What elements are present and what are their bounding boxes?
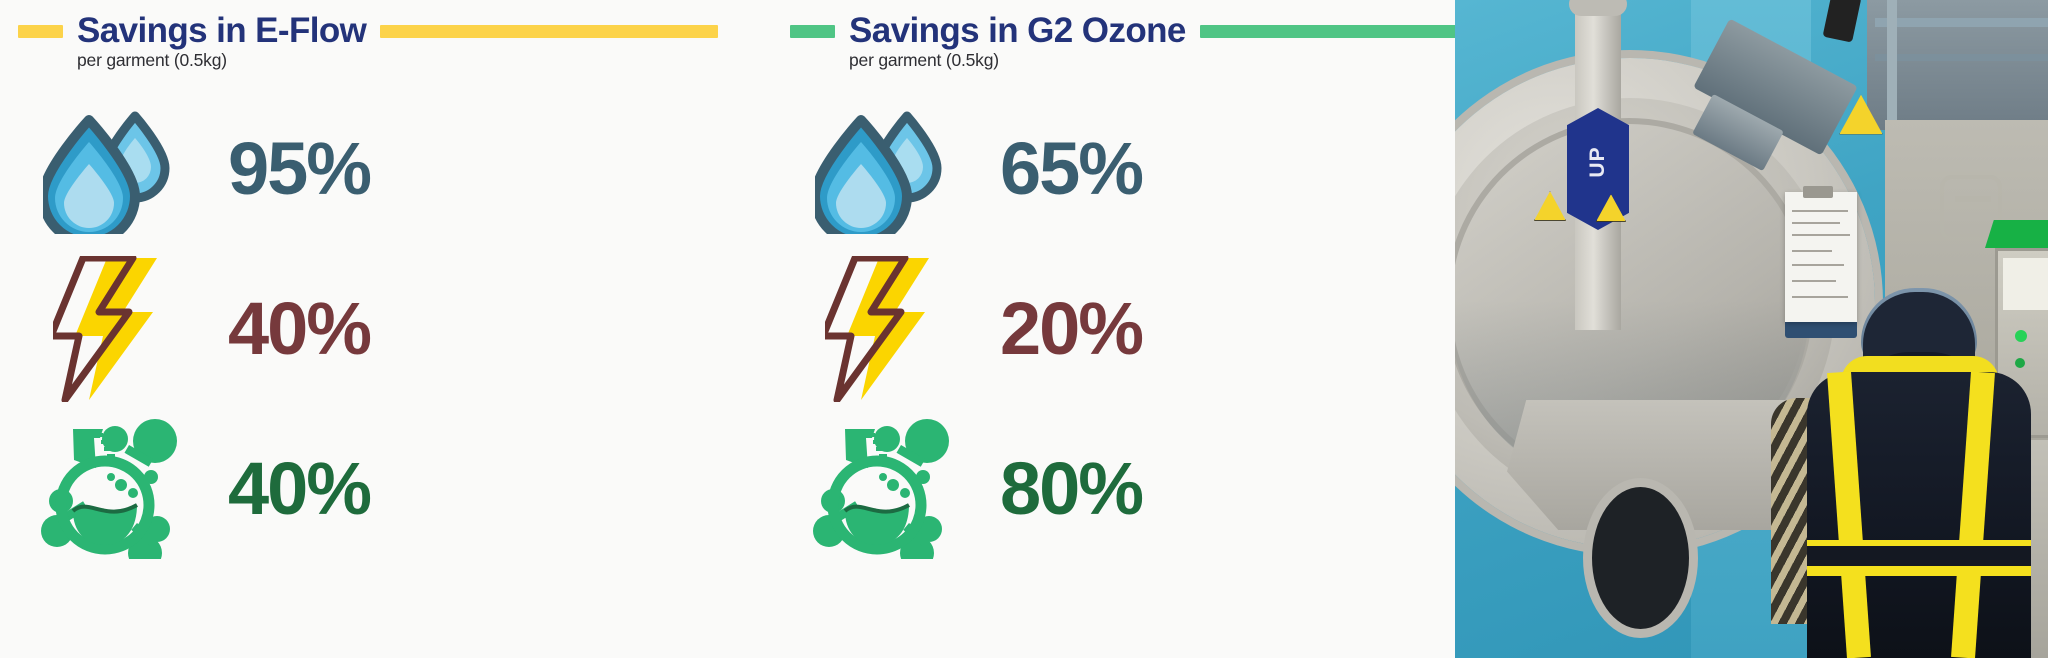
status-led-green <box>2015 358 2025 368</box>
lightning-bolt-icon <box>18 256 208 402</box>
apron-waist-band <box>1807 566 2031 576</box>
column-title-e-flow: Savings in E-Flow <box>77 11 366 51</box>
overhead-post <box>1887 0 1897 120</box>
column-title-g2-ozone: Savings in G2 Ozone <box>849 11 1186 51</box>
stat-value-water: 65% <box>1000 132 1142 206</box>
stat-value-chemicals: 40% <box>228 452 370 526</box>
paper-line <box>1792 264 1844 266</box>
stat-row-water: 95% <box>18 89 718 249</box>
stat-row-water: 65% <box>790 89 1490 249</box>
water-drops-icon <box>18 104 208 234</box>
lightning-bolt-icon <box>790 256 980 402</box>
stat-value-chemicals: 80% <box>1000 452 1142 526</box>
stat-row-chemicals: 80% <box>790 409 1490 569</box>
column-header-g2-ozone: Savings in G2 Ozone <box>790 0 1490 46</box>
drain-port <box>1583 478 1698 638</box>
water-drops-icon <box>790 104 980 234</box>
stat-value-energy: 40% <box>228 292 370 366</box>
paper-line <box>1792 280 1836 282</box>
up-sign-label: UP <box>1586 131 1610 193</box>
stat-rows-g2-ozone: 65% 20% <box>790 89 1490 569</box>
green-awning <box>1985 220 2048 248</box>
paper-line <box>1792 250 1832 252</box>
clipboard-clamp <box>1803 186 1833 198</box>
worker-belt <box>1807 546 2031 568</box>
paper-line <box>1792 234 1850 236</box>
control-label-plate <box>2003 258 2048 310</box>
factory-photo: UP <box>1455 0 2048 658</box>
rule-short-green <box>790 25 835 38</box>
stat-row-chemicals: 40% <box>18 409 718 569</box>
manufacturer-logo-bar <box>1955 196 1991 202</box>
infographic-slide: Savings in E-Flow per garment (0.5kg) <box>0 0 2048 658</box>
lift-arm-cap <box>1569 0 1627 16</box>
rule-long-green <box>1200 25 1490 38</box>
rule-long-yellow <box>380 25 718 38</box>
overhead-rail <box>1875 18 2048 27</box>
stat-row-energy: 40% <box>18 249 718 409</box>
chemistry-flask-icon <box>18 419 208 559</box>
stat-value-energy: 20% <box>1000 292 1142 366</box>
column-subtitle-e-flow: per garment (0.5kg) <box>77 50 718 71</box>
stat-value-water: 95% <box>228 132 370 206</box>
overhead-rail <box>1875 54 2048 61</box>
paper-line <box>1792 296 1848 298</box>
stats-panel: Savings in E-Flow per garment (0.5kg) <box>0 0 1455 658</box>
stat-rows-e-flow: 95% 40% <box>18 89 718 569</box>
stat-row-energy: 20% <box>790 249 1490 409</box>
column-header-e-flow: Savings in E-Flow <box>18 0 718 46</box>
paper-line <box>1792 210 1848 212</box>
chemistry-flask-icon <box>790 419 980 559</box>
paper-line <box>1792 222 1840 224</box>
rule-short-yellow <box>18 25 63 38</box>
column-subtitle-g2-ozone: per garment (0.5kg) <box>849 50 1490 71</box>
status-led-green <box>2015 330 2027 342</box>
stats-column-e-flow: Savings in E-Flow per garment (0.5kg) <box>18 0 718 658</box>
stats-column-g2-ozone: Savings in G2 Ozone per garment (0.5kg) <box>790 0 1490 658</box>
